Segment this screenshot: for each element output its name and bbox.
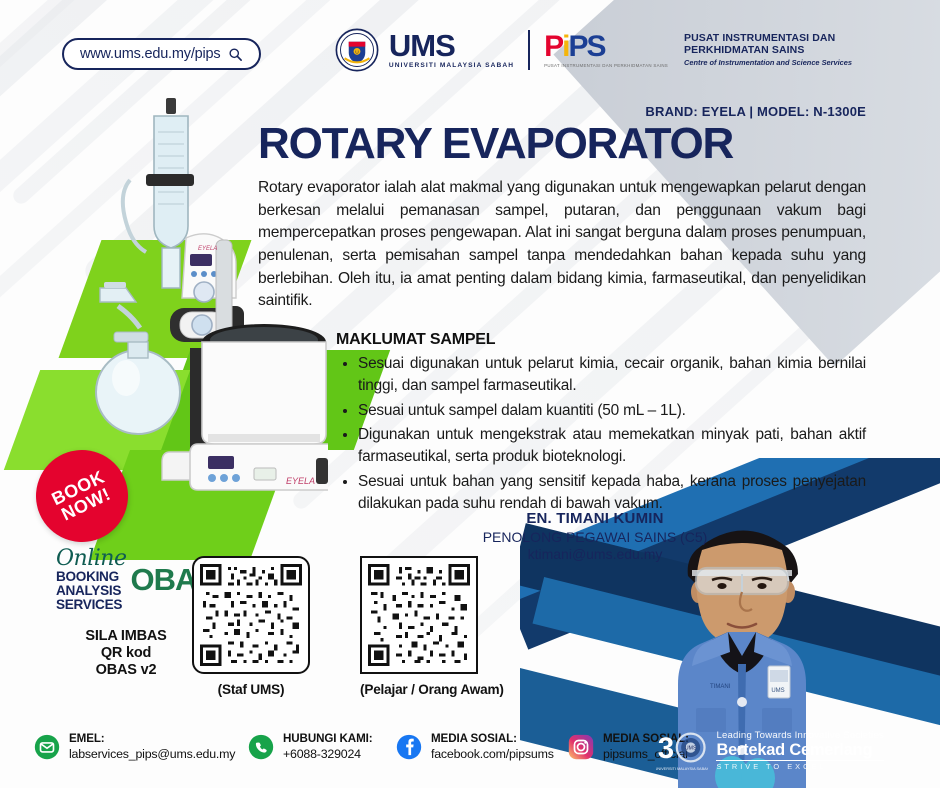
footer-item-phone[interactable]: HUBUNGI KAMI: +6088-329024 bbox=[248, 732, 373, 762]
obas-line-booking: BOOKING bbox=[56, 570, 126, 584]
svg-text:EYELA: EYELA bbox=[198, 246, 217, 252]
ums-name: UMS bbox=[389, 30, 514, 61]
email-icon bbox=[34, 734, 60, 760]
sample-info-list: Sesuai digunakan untuk pelarut kimia, ce… bbox=[358, 353, 866, 515]
svg-text:3: 3 bbox=[658, 732, 674, 765]
search-icon bbox=[228, 47, 243, 62]
website-url-text: www.ums.edu.my/pips bbox=[80, 46, 220, 62]
qr-code-public[interactable]: (Pelajar / Orang Awam) bbox=[360, 556, 504, 697]
poster-canvas: www.ums.edu.my/pips U UMS UNIVERSITI MAL… bbox=[0, 0, 940, 788]
footer-label-email: EMEL: bbox=[69, 732, 235, 746]
anniversary-tagline-en: Leading Towards Innovative Societies bbox=[716, 731, 884, 741]
footer-value-email[interactable]: labservices_pips@ums.edu.my bbox=[69, 747, 235, 762]
pips-logomark: P i PS PUSAT INSTRUMENTASI DAN PERKHIDMA… bbox=[544, 32, 668, 68]
page-title: ROTARY EVAPORATOR bbox=[258, 121, 866, 167]
logo-divider bbox=[528, 30, 530, 70]
obas-scan-caption: SILA IMBAS QR kod OBAS v2 bbox=[56, 628, 196, 680]
obas-line-services: SERVICES bbox=[56, 598, 126, 612]
obas-online-word: Online bbox=[56, 548, 126, 570]
book-now-label: BOOK NOW! bbox=[33, 460, 131, 533]
footer-item-email[interactable]: EMEL: labservices_pips@ums.edu.my bbox=[34, 732, 235, 762]
facebook-icon bbox=[396, 734, 422, 760]
website-url-pill[interactable]: www.ums.edu.my/pips bbox=[62, 38, 261, 70]
contact-person-role: PENOLONG PEGAWAI SAINS (C5) bbox=[480, 529, 710, 545]
list-item: Sesuai digunakan untuk pelarut kimia, ce… bbox=[358, 353, 866, 397]
obas-block: Online BOOKING ANALYSIS SERVICES OBAS SI… bbox=[56, 548, 196, 680]
institution-logos: U UMS UNIVERSITI MALAYSIA SABAH P i PS P… bbox=[335, 28, 852, 72]
pips-name-line3: Centre of Instrumentation and Science Se… bbox=[684, 59, 852, 67]
svg-text:UMS: UMS bbox=[771, 688, 784, 694]
ums-crest-icon: U bbox=[335, 28, 379, 72]
contact-person-block: EN. TIMANI KUMIN PENOLONG PEGAWAI SAINS … bbox=[480, 510, 710, 562]
anniversary-tagline-sub: STRIVE TO EXCEL bbox=[716, 763, 884, 771]
sample-info-heading: MAKLUMAT SAMPEL bbox=[336, 331, 866, 349]
svg-text:UMS: UMS bbox=[685, 745, 697, 751]
description-paragraph: Rotary evaporator ialah alat makmal yang… bbox=[258, 177, 866, 313]
list-item: Sesuai untuk bahan yang sensitif kepada … bbox=[358, 471, 866, 515]
footer-label-phone: HUBUNGI KAMI: bbox=[283, 732, 373, 746]
contact-person-name: EN. TIMANI KUMIN bbox=[480, 510, 710, 527]
anniversary-logo: 3 UMS UNIVERSITI MALAYSIA SABAH Leading … bbox=[656, 728, 884, 774]
list-item: Sesuai untuk sampel dalam kuantiti (50 m… bbox=[358, 400, 866, 422]
svg-text:UNIVERSITI MALAYSIA SABAH: UNIVERSITI MALAYSIA SABAH bbox=[656, 767, 708, 771]
pips-name-line2: PERKHIDMATAN SAINS bbox=[684, 45, 852, 57]
whatsapp-icon bbox=[248, 734, 274, 760]
contact-person-email[interactable]: ktimani@ums.edu.my bbox=[480, 546, 710, 562]
ums-wordmark: UMS UNIVERSITI MALAYSIA SABAH bbox=[389, 30, 514, 70]
pips-fullname: PUSAT INSTRUMENTASI DAN PERKHIDMATAN SAI… bbox=[684, 33, 852, 67]
obas-line-analysis: ANALYSIS bbox=[56, 584, 126, 598]
svg-text:U: U bbox=[355, 49, 359, 55]
ums-subtitle: UNIVERSITI MALAYSIA SABAH bbox=[389, 63, 514, 70]
ums-30-anniversary-icon: 3 UMS UNIVERSITI MALAYSIA SABAH bbox=[656, 728, 708, 774]
obas-caption-line3: OBAS v2 bbox=[56, 662, 196, 679]
obas-caption-line1: SILA IMBAS bbox=[56, 628, 196, 645]
footer-value-facebook[interactable]: facebook.com/pipsums bbox=[431, 747, 554, 762]
qr-code-staff[interactable]: (Staf UMS) bbox=[192, 556, 310, 697]
instagram-icon bbox=[568, 734, 594, 760]
main-content: BRAND: EYELA | MODEL: N-1300E ROTARY EVA… bbox=[258, 104, 866, 518]
pips-letter-p: P bbox=[544, 32, 562, 62]
footer-value-phone[interactable]: +6088-329024 bbox=[283, 747, 373, 762]
svg-text:TIMANI: TIMANI bbox=[710, 684, 731, 690]
obas-caption-line2: QR kod bbox=[56, 645, 196, 662]
list-item: Digunakan untuk mengekstrak atau memekat… bbox=[358, 424, 866, 468]
qr-code-icon[interactable] bbox=[360, 556, 478, 674]
footer-item-facebook[interactable]: MEDIA SOSIAL: facebook.com/pipsums bbox=[396, 732, 554, 762]
anniversary-tagline-my: Bertekad Cemerlang bbox=[716, 742, 884, 761]
pips-logomark-tagline: PUSAT INSTRUMENTASI DAN PERKHIDMATAN SAI… bbox=[544, 64, 668, 68]
qr-caption-public: (Pelajar / Orang Awam) bbox=[360, 682, 504, 697]
footer-label-facebook: MEDIA SOSIAL: bbox=[431, 732, 554, 746]
pips-letter-ps: PS bbox=[568, 32, 604, 62]
qr-code-icon[interactable] bbox=[192, 556, 310, 674]
qr-caption-staff: (Staf UMS) bbox=[192, 682, 310, 697]
brand-model-line: BRAND: EYELA | MODEL: N-1300E bbox=[258, 104, 866, 119]
